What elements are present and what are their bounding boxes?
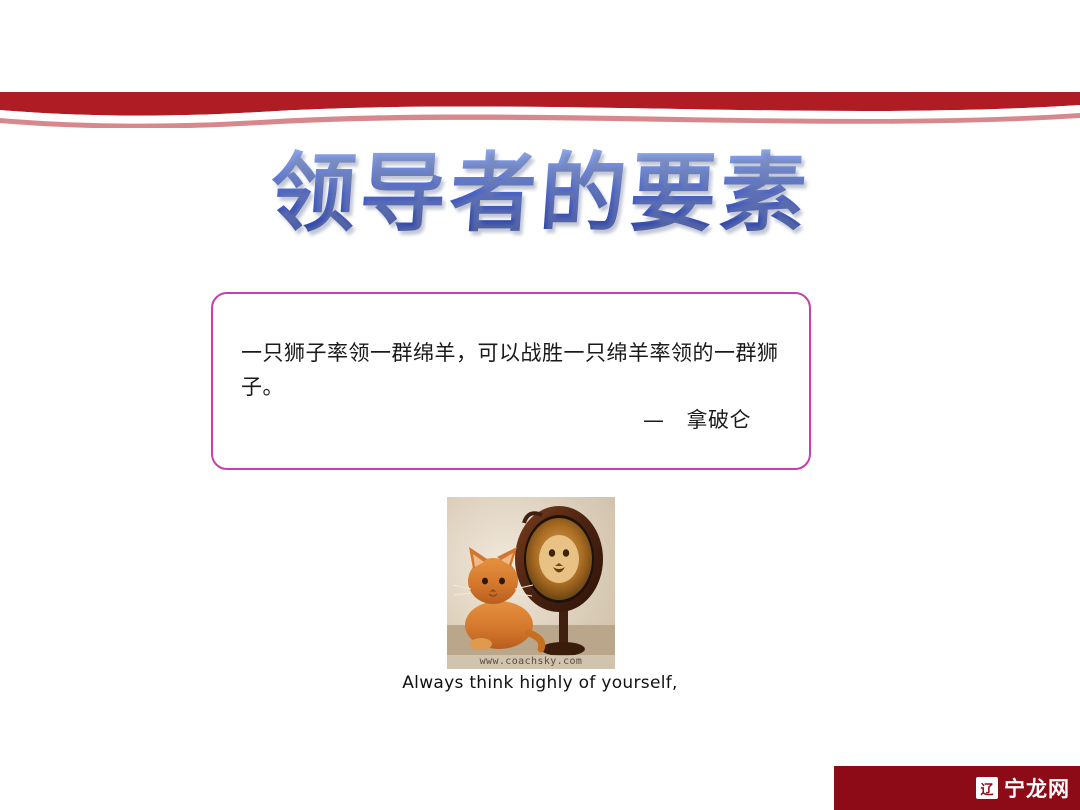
slide-canvas: 领导者的要素 一只狮子率领一群绵羊，可以战胜一只绵羊率领的一群狮子。 —拿破仑 [0,0,1080,810]
quote-text: 一只狮子率领一群绵羊，可以战胜一只绵羊率领的一群狮子。 [241,336,781,404]
footer-watermark-bar: 辽 宁龙网 [834,766,1080,810]
footer-watermark-inner: 辽 宁龙网 [976,773,1080,803]
quote-attribution: —拿破仑 [643,404,751,434]
band-graphic [0,92,1080,128]
quote-author: 拿破仑 [687,408,752,432]
kitten-mirror-lion-image: www.coachsky.com [447,497,615,669]
page-title-wrapper: 领导者的要素 [0,148,1080,241]
image-watermark-url: www.coachsky.com [447,656,615,667]
quote-box: 一只狮子率领一群绵羊，可以战胜一只绵羊率领的一群狮子。 —拿破仑 [211,292,811,470]
watermark-badge-icon: 辽 [976,777,998,799]
quote-dash: — [643,408,665,432]
top-decorative-band [0,92,1080,128]
page-title: 领导者的要素 [267,148,813,241]
watermark-text: 宁龙网 [1004,773,1070,803]
photo-graphic [447,497,615,669]
image-caption: Always think highly of yourself, [0,673,1080,693]
